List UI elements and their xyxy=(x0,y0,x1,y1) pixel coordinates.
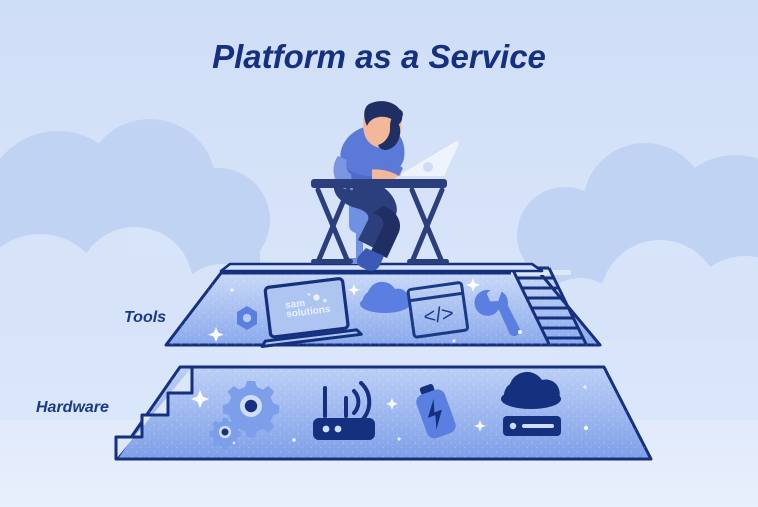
layer-label-hardware: Hardware xyxy=(36,399,109,416)
code-glyph: </> xyxy=(422,302,455,329)
layer-label-tools: Tools xyxy=(124,309,166,326)
illustration-canvas: Platform as a Service xyxy=(0,0,758,507)
top-platform xyxy=(221,264,542,271)
page-title: Platform as a Service xyxy=(212,38,546,75)
